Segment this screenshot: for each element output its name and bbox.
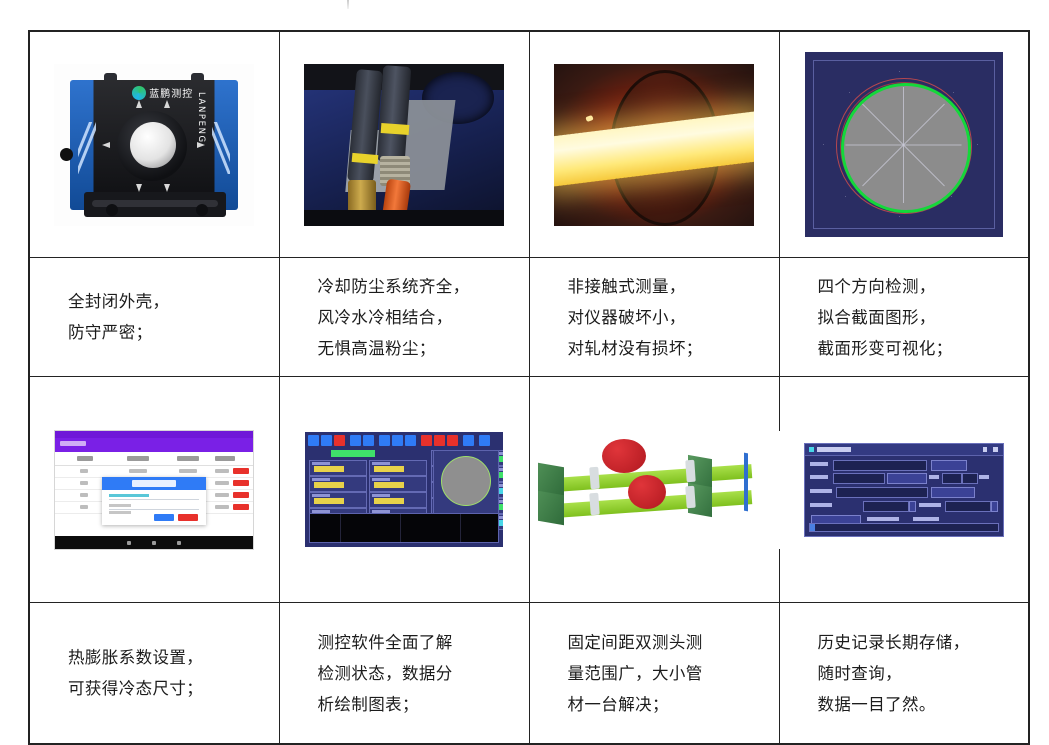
end-time-spinner[interactable] bbox=[991, 501, 998, 512]
beam-collar-upper bbox=[589, 466, 600, 489]
flow-arrow-icon bbox=[164, 100, 170, 108]
toolbar-button-icon bbox=[334, 435, 345, 446]
select-spec-button[interactable] bbox=[887, 473, 927, 484]
feature-grid-page: 蓝鹏测控 LANPENG bbox=[0, 0, 1049, 725]
cell-laser-diagram bbox=[529, 377, 779, 603]
receiver-blue-face-lower bbox=[744, 480, 748, 511]
toolbar-button-icon bbox=[363, 435, 374, 446]
status-badge bbox=[233, 492, 249, 498]
cell-device-photo: 蓝鹏测控 LANPENG bbox=[29, 31, 279, 258]
cell-caption-software: 测控软件全面了解 检测状态，数据分 析绘制图表； bbox=[279, 603, 529, 745]
dialog-title-text bbox=[132, 480, 176, 487]
cell-history-dialog bbox=[779, 377, 1029, 603]
status-badge bbox=[233, 468, 249, 474]
caption-block: 冷却防尘系统齐全， 风冷水冷相结合， 无惧高温粉尘； bbox=[280, 271, 529, 364]
tablet-expansion-coefficient-app bbox=[54, 430, 254, 550]
axis-tick-label: · bbox=[899, 214, 900, 219]
software-toolbar bbox=[308, 435, 500, 446]
caption-line: 拟合截面图形， bbox=[818, 302, 1029, 333]
dialog-field-active[interactable] bbox=[109, 494, 149, 497]
start-time-input[interactable] bbox=[863, 501, 909, 512]
column-header bbox=[127, 456, 149, 461]
caption-line: 对轧材没有损坏； bbox=[568, 333, 779, 364]
yellow-tag-right bbox=[381, 123, 410, 135]
blue-accent-stripes-left bbox=[78, 122, 96, 174]
dialog-field-underline bbox=[109, 509, 199, 510]
vertical-brand-label: LANPENG bbox=[196, 92, 206, 144]
cursor-artifact bbox=[347, 0, 349, 9]
axis-tick-label: · bbox=[899, 69, 900, 74]
close-icon[interactable] bbox=[993, 447, 998, 452]
side-connector-knob bbox=[60, 148, 73, 161]
cell-caption-sealed-housing: 全封闭外壳， 防守严密； bbox=[29, 258, 279, 377]
cell-measurement-software bbox=[279, 377, 529, 603]
caption-line: 测控软件全面了解 bbox=[318, 627, 529, 658]
measuring-bore bbox=[130, 122, 176, 168]
status-badge bbox=[233, 504, 249, 510]
form-label bbox=[979, 475, 989, 479]
cell-caption-dual-sensor: 固定间距双测头测 量范围广，大小管 材一台解决； bbox=[529, 603, 779, 745]
caption-block: 四个方向检测， 拟合截面图形， 截面形变可视化； bbox=[780, 271, 1029, 364]
import-button[interactable] bbox=[931, 487, 975, 498]
caption-line: 析绘制图表； bbox=[318, 689, 529, 720]
form-label bbox=[810, 489, 832, 493]
measurement-control-software-screen bbox=[305, 432, 503, 547]
caption-line: 检测状态，数据分 bbox=[318, 658, 529, 689]
measure-field bbox=[369, 476, 427, 492]
caption-line: 固定间距双测头测 bbox=[568, 627, 779, 658]
form-label bbox=[919, 503, 941, 507]
caption-line: 材一台解决； bbox=[568, 689, 779, 720]
caption-block: 固定间距双测头测 量范围广，大小管 材一台解决； bbox=[530, 627, 779, 720]
brand-label: 蓝鹏测控 bbox=[149, 85, 193, 100]
caption-line: 对仪器破坏小， bbox=[568, 302, 779, 333]
app-title-placeholder bbox=[60, 441, 86, 446]
nav-back-icon bbox=[127, 541, 131, 545]
cooling-dustproof-pipes-photo bbox=[304, 64, 504, 226]
axis-tick-label: · bbox=[845, 194, 846, 199]
axis-tick-label: · bbox=[977, 142, 978, 147]
query-button[interactable] bbox=[931, 460, 967, 471]
flow-arrow-icon bbox=[136, 184, 142, 192]
cell-caption-four-direction: 四个方向检测， 拟合截面图形， 截面形变可视化； bbox=[779, 258, 1029, 377]
tablet-status-bar bbox=[55, 431, 253, 438]
section-preview-disc bbox=[441, 456, 491, 506]
dialog-field-underline bbox=[109, 499, 199, 500]
column-header bbox=[215, 456, 235, 461]
column-header bbox=[77, 456, 93, 461]
toolbar-button-icon bbox=[447, 435, 458, 446]
caption-line: 冷却防尘系统齐全， bbox=[318, 271, 529, 302]
axis-tick-label: · bbox=[823, 142, 824, 147]
window-app-icon bbox=[809, 447, 814, 452]
toolbar-button-icon bbox=[463, 435, 474, 446]
caption-line: 无惧高温粉尘； bbox=[318, 333, 529, 364]
table-row-images-top: 蓝鹏测控 LANPENG bbox=[29, 31, 1029, 258]
caption-block: 热膨胀系数设置， 可获得冷态尺寸； bbox=[30, 642, 279, 704]
software-section-title bbox=[331, 450, 375, 457]
product-number-input[interactable] bbox=[833, 460, 927, 471]
caption-line: 非接触式测量， bbox=[568, 271, 779, 302]
dialog-title-text bbox=[817, 447, 851, 452]
dual-sensor-laser-diagram bbox=[530, 431, 780, 549]
blue-accent-stripes-right bbox=[212, 122, 230, 174]
spec-input[interactable] bbox=[833, 473, 885, 484]
table-header-row bbox=[55, 452, 253, 466]
cell-tablet-app bbox=[29, 377, 279, 603]
caption-line: 全封闭外壳， bbox=[68, 286, 279, 317]
caption-line: 可获得冷态尺寸； bbox=[68, 673, 279, 704]
product-feature-table: 蓝鹏测控 LANPENG bbox=[28, 30, 1030, 745]
flow-arrow-icon bbox=[136, 100, 142, 108]
form-label bbox=[929, 475, 939, 479]
measure-field bbox=[369, 460, 427, 476]
batch-number-input[interactable] bbox=[836, 487, 928, 498]
form-label bbox=[810, 503, 832, 507]
cell-hot-bar-photo bbox=[529, 31, 779, 258]
beam-collar-upper-right bbox=[685, 459, 696, 482]
caption-line: 数据一目了然。 bbox=[818, 689, 1029, 720]
column-header bbox=[177, 456, 199, 461]
form-label bbox=[810, 475, 828, 479]
red-pipe-lower bbox=[628, 475, 666, 509]
caption-block: 历史记录长期存储， 随时查询， 数据一目了然。 bbox=[780, 627, 1029, 720]
caption-line: 防守严密； bbox=[68, 317, 279, 348]
trend-chart-strip bbox=[309, 513, 499, 543]
axis-tick-label: · bbox=[953, 90, 954, 95]
cell-caption-history: 历史记录长期存储， 随时查询， 数据一目了然。 bbox=[779, 603, 1029, 745]
measure-field bbox=[369, 492, 427, 508]
caption-block: 非接触式测量， 对仪器破坏小， 对轧材没有损坏； bbox=[530, 271, 779, 364]
flow-arrow-icon bbox=[197, 142, 205, 148]
start-time-spinner[interactable] bbox=[909, 501, 916, 512]
nav-home-icon bbox=[152, 541, 156, 545]
caption-line: 四个方向检测， bbox=[818, 271, 1029, 302]
toolbar-button-icon bbox=[434, 435, 445, 446]
lanpeng-measuring-device-photo: 蓝鹏测控 LANPENG bbox=[54, 64, 254, 226]
yellow-tag-left bbox=[352, 152, 379, 163]
toolbar-button-icon bbox=[421, 435, 432, 446]
history-record-query-dialog bbox=[804, 443, 1004, 537]
toolbar-button-icon bbox=[321, 435, 332, 446]
tablet-navigation-bar bbox=[55, 536, 253, 549]
caption-line: 随时查询， bbox=[818, 658, 1029, 689]
nav-recents-icon bbox=[177, 541, 181, 545]
beam-collar-lower-right bbox=[685, 485, 696, 508]
cell-cooling-pipes-photo bbox=[279, 31, 529, 258]
toolbar-button-icon bbox=[479, 435, 490, 446]
toolbar-button-icon bbox=[392, 435, 403, 446]
cell-caption-cooling-system: 冷却防尘系统齐全， 风冷水冷相结合， 无惧高温粉尘； bbox=[279, 258, 529, 377]
receiver-blue-face-upper bbox=[744, 452, 748, 483]
flow-arrow-icon bbox=[164, 184, 170, 192]
caption-line: 历史记录长期存储， bbox=[818, 627, 1029, 658]
measure-field bbox=[309, 460, 367, 476]
toolbar-button-icon bbox=[379, 435, 390, 446]
dialog-field-label bbox=[109, 504, 131, 507]
base-knob-left bbox=[106, 204, 118, 216]
axis-tick-label: · bbox=[849, 90, 850, 95]
axis-tick-label: · bbox=[951, 194, 952, 199]
caption-block: 全封闭外壳， 防守严密； bbox=[30, 286, 279, 348]
dialog-field-label bbox=[109, 511, 131, 514]
hot-rolled-bar-photo bbox=[554, 64, 754, 226]
expansion-coefficient-dialog[interactable] bbox=[102, 477, 206, 525]
lanpeng-logo-icon bbox=[132, 86, 146, 100]
status-text bbox=[867, 517, 899, 521]
toolbar-button-icon bbox=[405, 435, 416, 446]
dialog-confirm-button[interactable] bbox=[154, 514, 174, 521]
laser-emitter-lower-left bbox=[538, 490, 564, 525]
cross-section-fitting-view: · · · · · · · · bbox=[805, 52, 1003, 237]
dialog-title-bar bbox=[805, 444, 1003, 456]
base-knob-right bbox=[196, 204, 208, 216]
dialog-cancel-button[interactable] bbox=[178, 514, 198, 521]
cell-caption-expansion-coefficient: 热膨胀系数设置， 可获得冷态尺寸； bbox=[29, 603, 279, 745]
table-row-captions-bottom: 热膨胀系数设置， 可获得冷态尺寸； 测控软件全面了解 检测状态，数据分 析绘制图… bbox=[29, 603, 1029, 745]
beam-collar-lower bbox=[589, 492, 600, 515]
table-row-images-bottom bbox=[29, 377, 1029, 603]
red-pipe-upper bbox=[602, 439, 646, 473]
table-row-captions-top: 全封闭外壳， 防守严密； 冷却防尘系统齐全， 风冷水冷相结合， 无惧高温粉尘； … bbox=[29, 258, 1029, 377]
form-label bbox=[810, 462, 828, 466]
caption-block: 测控软件全面了解 检测状态，数据分 析绘制图表； bbox=[280, 627, 529, 720]
photo-dark-bottom bbox=[304, 210, 504, 226]
end-time-input[interactable] bbox=[945, 501, 991, 512]
caption-line: 热膨胀系数设置， bbox=[68, 642, 279, 673]
caption-line: 风冷水冷相结合， bbox=[318, 302, 529, 333]
status-badge bbox=[233, 480, 249, 486]
caption-line: 量范围广，大小管 bbox=[568, 658, 779, 689]
help-icon[interactable] bbox=[983, 447, 987, 452]
cell-caption-non-contact: 非接触式测量， 对仪器破坏小， 对轧材没有损坏； bbox=[529, 258, 779, 377]
measure-field bbox=[309, 492, 367, 508]
flow-arrow-icon bbox=[102, 142, 110, 148]
caption-line: 截面形变可视化； bbox=[818, 333, 1029, 364]
measure-field bbox=[309, 476, 367, 492]
count-input[interactable] bbox=[942, 473, 978, 484]
toolbar-button-icon bbox=[350, 435, 361, 446]
toolbar-button-icon bbox=[308, 435, 319, 446]
cell-cross-section-view: · · · · · · · · bbox=[779, 31, 1029, 258]
progress-bar bbox=[809, 523, 999, 532]
status-text bbox=[913, 517, 939, 521]
